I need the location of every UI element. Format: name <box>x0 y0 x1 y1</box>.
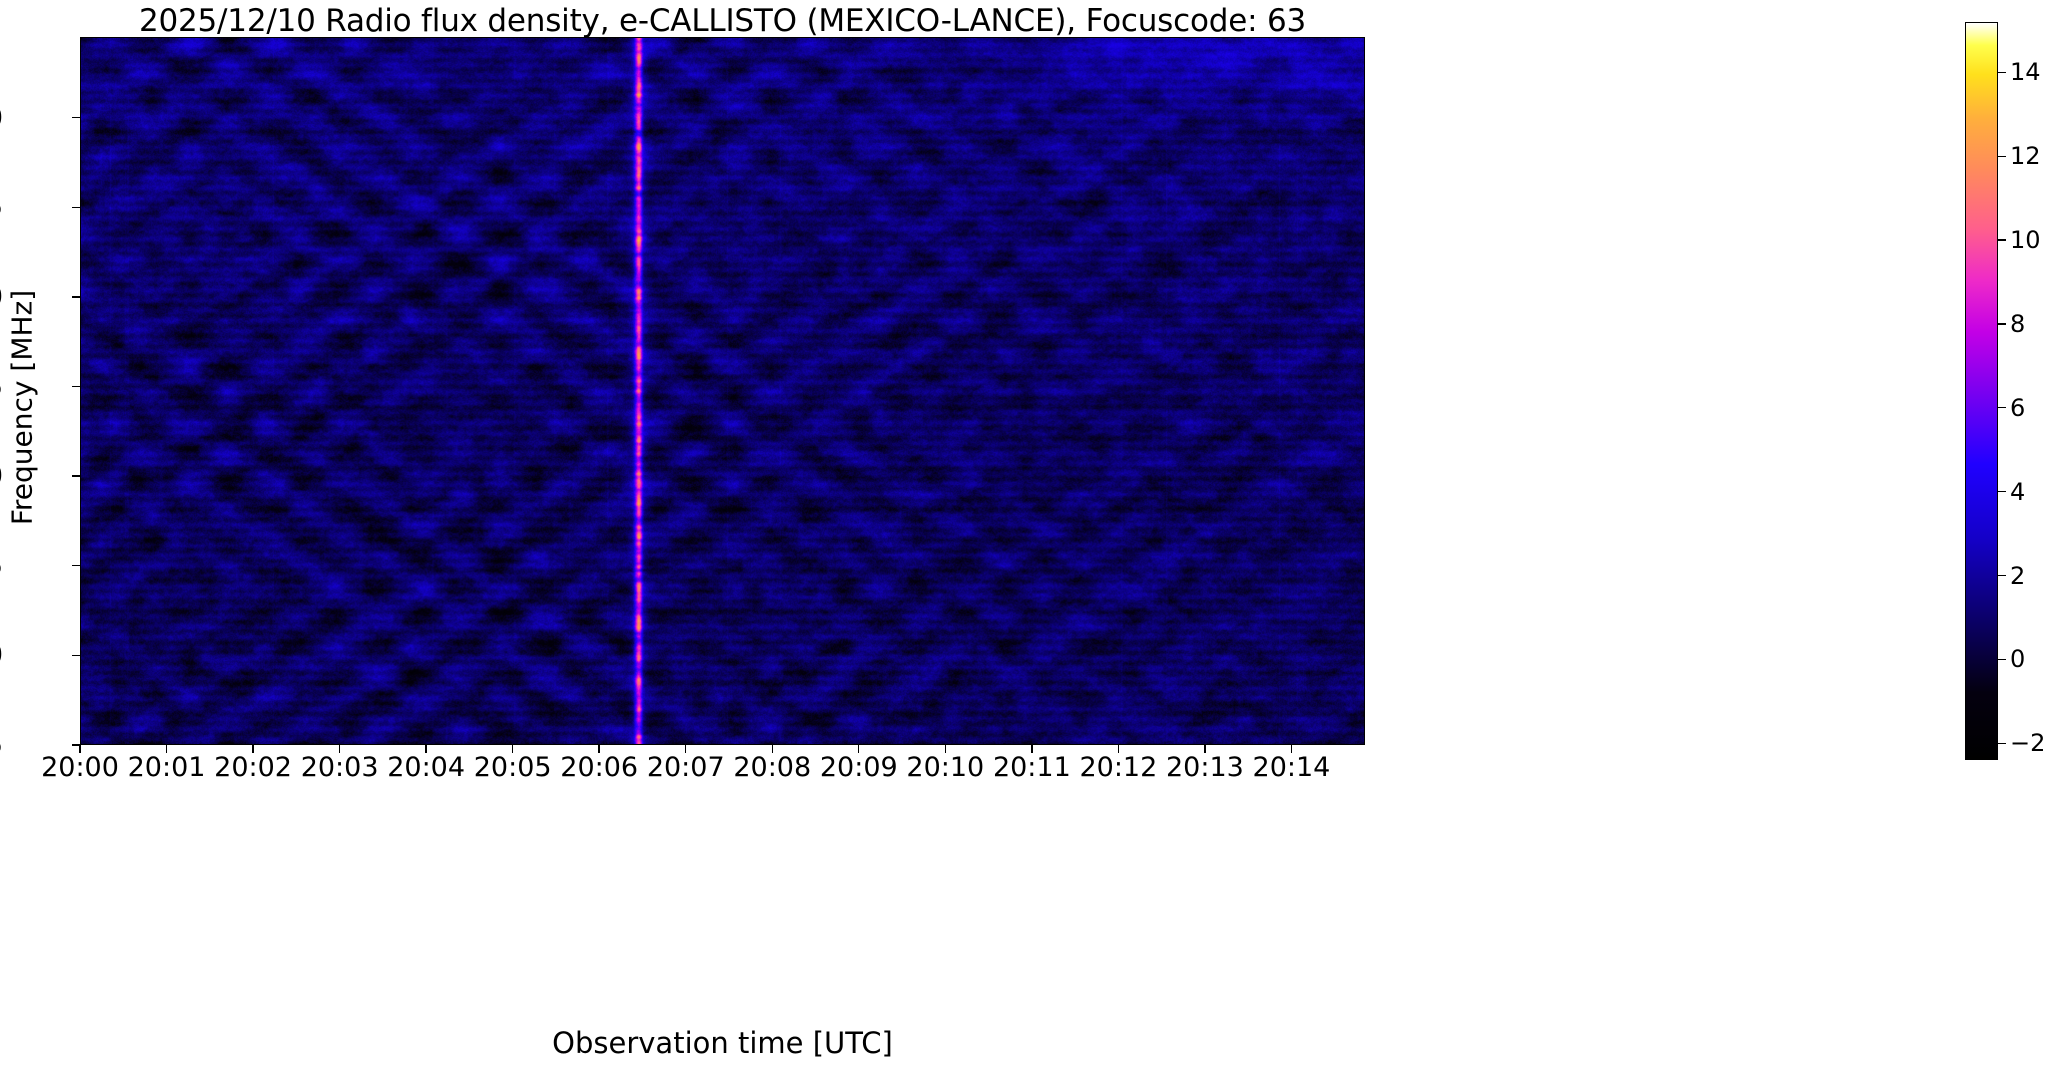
colorbar-tick-label: −2 <box>2010 729 2045 757</box>
x-tick-label: 20:12 <box>1079 752 1157 783</box>
colorbar-tick-label: 0 <box>2010 645 2025 673</box>
y-tick-mark <box>72 565 80 566</box>
x-tick-label: 20:01 <box>128 752 206 783</box>
y-tick-mark <box>72 386 80 387</box>
y-tick-label: 50 <box>0 640 3 671</box>
x-tick-label: 20:10 <box>906 752 984 783</box>
colorbar <box>1965 22 1998 760</box>
colorbar-tick-mark <box>1998 156 2006 157</box>
x-tick-label: 20:11 <box>993 752 1071 783</box>
colorbar-tick-label: 6 <box>2010 394 2025 422</box>
colorbar-tick-label: 8 <box>2010 310 2025 338</box>
x-tick-label: 20:07 <box>647 752 725 783</box>
x-tick-label: 20:04 <box>387 752 465 783</box>
x-tick-mark <box>858 745 859 753</box>
x-tick-label: 20:02 <box>214 752 292 783</box>
y-tick-label: 80 <box>0 102 3 133</box>
x-tick-mark <box>166 745 167 753</box>
y-tick-label: 45 <box>0 730 3 761</box>
y-tick-mark <box>72 296 80 297</box>
y-tick-mark <box>72 475 80 476</box>
colorbar-tick-label: 12 <box>2010 142 2041 170</box>
x-tick-label: 20:14 <box>1253 752 1331 783</box>
x-tick-mark <box>512 745 513 753</box>
x-tick-mark <box>598 745 599 753</box>
y-tick-label: 65 <box>0 371 3 402</box>
x-tick-mark <box>1204 745 1205 753</box>
x-tick-label: 20:08 <box>733 752 811 783</box>
spectrogram-figure: 2025/12/10 Radio flux density, e-CALLIST… <box>0 0 2047 1067</box>
x-tick-label: 20:09 <box>820 752 898 783</box>
spectrogram-image <box>81 38 1364 744</box>
x-tick-mark <box>252 745 253 753</box>
x-tick-mark <box>425 745 426 753</box>
colorbar-gradient <box>1966 23 1997 759</box>
y-tick-label: 60 <box>0 461 3 492</box>
colorbar-tick-label: 14 <box>2010 58 2041 86</box>
colorbar-tick-mark <box>1998 72 2006 73</box>
x-tick-mark <box>1118 745 1119 753</box>
y-tick-mark <box>72 655 80 656</box>
x-tick-mark <box>1031 745 1032 753</box>
y-tick-label: 75 <box>0 192 3 223</box>
x-tick-mark <box>79 745 80 753</box>
x-tick-label: 20:13 <box>1166 752 1244 783</box>
spectrogram-plot-area <box>80 37 1365 745</box>
y-tick-mark <box>72 117 80 118</box>
x-tick-label: 20:06 <box>560 752 638 783</box>
x-tick-mark <box>945 745 946 753</box>
colorbar-tick-mark <box>1998 743 2006 744</box>
x-tick-label: 20:03 <box>301 752 379 783</box>
colorbar-tick-label: 4 <box>2010 478 2025 506</box>
x-axis-label: Observation time [UTC] <box>80 1026 1365 1060</box>
colorbar-tick-mark <box>1998 239 2006 240</box>
colorbar-tick-mark <box>1998 407 2006 408</box>
x-tick-label: 20:05 <box>474 752 552 783</box>
colorbar-tick-label: 2 <box>2010 562 2025 590</box>
x-tick-mark <box>339 745 340 753</box>
y-tick-label: 70 <box>0 281 3 312</box>
chart-title: 2025/12/10 Radio flux density, e-CALLIST… <box>80 3 1365 39</box>
colorbar-tick-mark <box>1998 659 2006 660</box>
colorbar-tick-mark <box>1998 575 2006 576</box>
colorbar-tick-mark <box>1998 323 2006 324</box>
y-axis-label: Frequency [MHz] <box>6 54 39 762</box>
y-tick-mark <box>72 207 80 208</box>
x-tick-mark <box>772 745 773 753</box>
x-tick-mark <box>1291 745 1292 753</box>
x-tick-label: 20:00 <box>41 752 119 783</box>
colorbar-tick-mark <box>1998 491 2006 492</box>
y-tick-label: 55 <box>0 550 3 581</box>
colorbar-tick-label: 10 <box>2010 226 2041 254</box>
x-tick-mark <box>685 745 686 753</box>
